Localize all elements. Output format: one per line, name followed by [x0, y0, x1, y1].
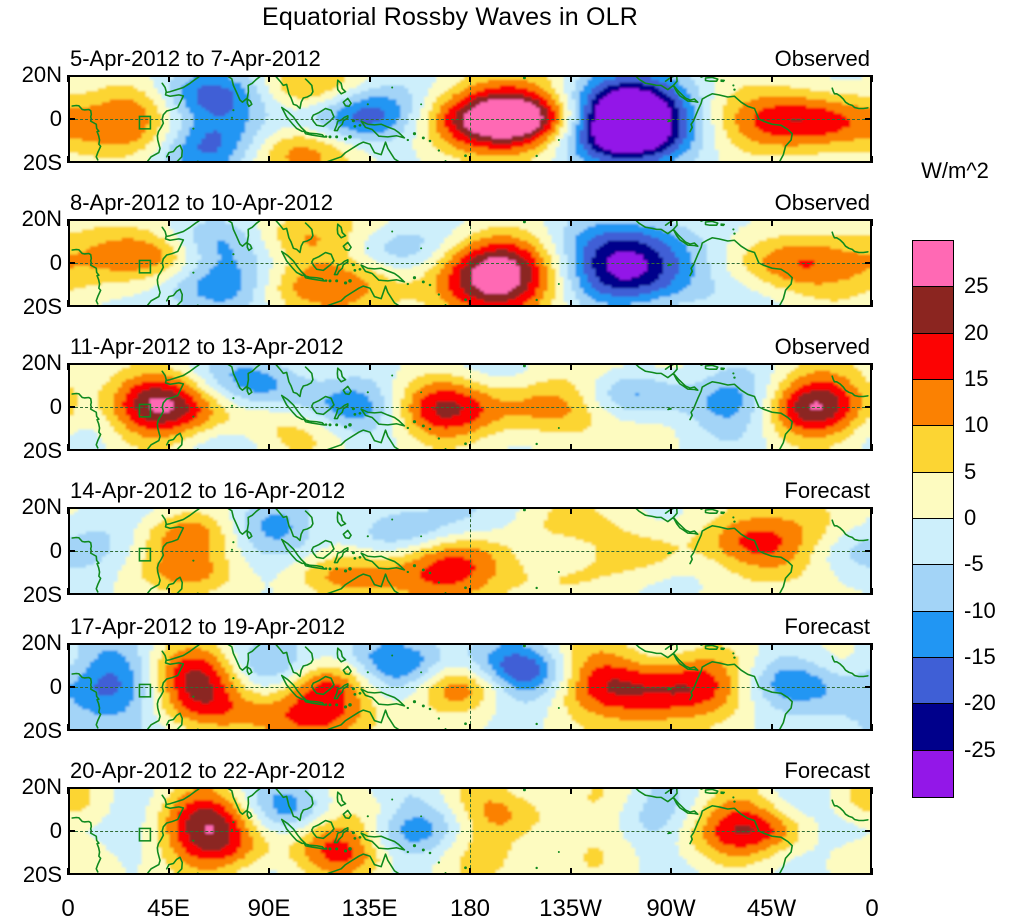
x-tick-label: 45E	[147, 895, 190, 923]
colorbar-band	[913, 287, 953, 333]
x-tick-mark	[771, 219, 773, 226]
panel-header: 17-Apr-2012 to 19-Apr-2012Forecast	[68, 614, 872, 640]
x-tick-mark	[268, 363, 270, 370]
panel-status: Observed	[775, 334, 870, 360]
x-tick-mark	[469, 868, 471, 875]
x-tick-mark	[771, 363, 773, 370]
x-tick-mark	[469, 300, 471, 307]
y-axis: 20N020S	[0, 643, 68, 731]
x-tick-mark	[369, 219, 371, 226]
colorbar-tick-label: 0	[964, 507, 976, 529]
meridian-180-line	[470, 221, 471, 305]
y-tick-mark	[68, 406, 75, 408]
x-tick-mark	[168, 643, 170, 650]
x-tick-mark	[369, 787, 371, 794]
x-tick-mark	[670, 724, 672, 731]
y-tick-mark	[865, 593, 872, 595]
colorbar-tick-label: -15	[964, 646, 996, 668]
colorbar-tick-label: 10	[964, 414, 988, 436]
x-tick-mark	[369, 363, 371, 370]
x-tick-mark	[469, 156, 471, 163]
map-panel: 5-Apr-2012 to 7-Apr-2012Observed20N020S	[68, 75, 872, 163]
y-tick-label: 0	[50, 540, 62, 562]
x-tick-mark	[469, 444, 471, 451]
y-tick-mark	[68, 873, 75, 875]
panel-date-range: 5-Apr-2012 to 7-Apr-2012	[70, 46, 321, 72]
x-tick-mark	[369, 643, 371, 650]
meridian-180-line	[470, 645, 471, 729]
x-tick-mark	[168, 444, 170, 451]
x-tick-mark	[268, 724, 270, 731]
x-tick-mark	[570, 724, 572, 731]
x-tick-mark	[369, 156, 371, 163]
x-tick-mark	[771, 444, 773, 451]
y-tick-mark	[865, 873, 872, 875]
y-axis: 20N020S	[0, 363, 68, 451]
y-tick-label: 0	[50, 820, 62, 842]
x-tick-mark	[570, 444, 572, 451]
x-tick-mark	[268, 588, 270, 595]
y-tick-label: 0	[50, 676, 62, 698]
panel-header: 20-Apr-2012 to 22-Apr-2012Forecast	[68, 758, 872, 784]
x-tick-mark	[670, 507, 672, 514]
y-tick-mark	[865, 729, 872, 731]
colorbar: W/m^2 2520151050-5-10-15-20-25	[900, 150, 1021, 850]
x-tick-mark	[168, 868, 170, 875]
x-tick-mark	[771, 787, 773, 794]
panel-date-range: 14-Apr-2012 to 16-Apr-2012	[70, 478, 345, 504]
page-title: Equatorial Rossby Waves in OLR	[0, 2, 900, 32]
x-tick-mark	[570, 156, 572, 163]
x-tick-mark	[268, 156, 270, 163]
colorbar-tick-label: 5	[964, 461, 976, 483]
x-tick-mark	[570, 300, 572, 307]
x-tick-mark	[168, 156, 170, 163]
y-tick-mark	[865, 161, 872, 163]
y-tick-mark	[865, 75, 872, 77]
x-tick-mark	[168, 363, 170, 370]
x-tick-mark	[268, 643, 270, 650]
y-tick-mark	[865, 305, 872, 307]
y-tick-label: 20S	[23, 584, 62, 606]
x-tick-mark	[168, 724, 170, 731]
y-tick-label: 20S	[23, 296, 62, 318]
panel-date-range: 20-Apr-2012 to 22-Apr-2012	[70, 758, 345, 784]
x-tick-mark	[670, 219, 672, 226]
panel-header: 5-Apr-2012 to 7-Apr-2012Observed	[68, 46, 872, 72]
panel-header: 14-Apr-2012 to 16-Apr-2012Forecast	[68, 478, 872, 504]
x-tick-mark	[369, 724, 371, 731]
panel-plot-area	[68, 643, 872, 731]
y-axis: 20N020S	[0, 787, 68, 875]
y-tick-mark	[68, 643, 75, 645]
colorbar-tick-label: -25	[964, 739, 996, 761]
y-tick-mark	[68, 686, 75, 688]
y-tick-mark	[68, 550, 75, 552]
panel-status: Observed	[775, 190, 870, 216]
colorbar-tick-label: -10	[964, 600, 996, 622]
y-tick-mark	[68, 787, 75, 789]
y-tick-label: 20N	[22, 632, 62, 654]
x-tick-mark	[268, 300, 270, 307]
x-tick-mark	[369, 507, 371, 514]
y-tick-label: 0	[50, 252, 62, 274]
y-tick-mark	[68, 305, 75, 307]
colorbar-band	[913, 519, 953, 565]
x-tick-mark	[268, 219, 270, 226]
y-tick-label: 20S	[23, 864, 62, 886]
y-tick-mark	[865, 262, 872, 264]
colorbar-band	[913, 565, 953, 611]
y-tick-label: 20N	[22, 64, 62, 86]
y-tick-mark	[68, 449, 75, 451]
figure-root: Equatorial Rossby Waves in OLR 5-Apr-201…	[0, 0, 1021, 922]
x-tick-mark	[570, 787, 572, 794]
panel-header: 11-Apr-2012 to 13-Apr-2012Observed	[68, 334, 872, 360]
y-tick-label: 0	[50, 108, 62, 130]
x-tick-mark	[469, 787, 471, 794]
x-tick-mark	[670, 643, 672, 650]
y-tick-mark	[865, 118, 872, 120]
x-tick-mark	[570, 363, 572, 370]
map-panel: 11-Apr-2012 to 13-Apr-2012Observed20N020…	[68, 363, 872, 451]
y-tick-label: 20N	[22, 352, 62, 374]
x-tick-mark	[670, 444, 672, 451]
x-tick-label: 90E	[248, 895, 291, 923]
colorbar-tick-label: 20	[964, 322, 988, 344]
x-tick-mark	[369, 300, 371, 307]
x-tick-mark	[268, 444, 270, 451]
x-tick-mark	[469, 507, 471, 514]
x-tick-label: 0	[61, 895, 74, 923]
x-tick-mark	[168, 787, 170, 794]
x-tick-mark	[168, 300, 170, 307]
y-tick-mark	[865, 363, 872, 365]
panel-plot-area	[68, 75, 872, 163]
x-tick-mark	[469, 75, 471, 82]
x-tick-mark	[570, 219, 572, 226]
x-tick-mark	[670, 787, 672, 794]
x-tick-mark	[268, 868, 270, 875]
x-tick-mark	[771, 643, 773, 650]
x-tick-mark	[469, 724, 471, 731]
x-tick-mark	[771, 507, 773, 514]
x-tick-mark	[570, 868, 572, 875]
y-tick-mark	[68, 729, 75, 731]
panel-plot-area	[68, 787, 872, 875]
x-tick-mark	[771, 868, 773, 875]
y-tick-label: 20N	[22, 208, 62, 230]
x-axis: 045E90E135E180135W90W45W0	[68, 877, 872, 922]
y-tick-mark	[68, 830, 75, 832]
colorbar-band	[913, 704, 953, 750]
x-tick-mark	[369, 444, 371, 451]
x-tick-mark	[168, 507, 170, 514]
x-tick-mark	[168, 588, 170, 595]
x-tick-mark	[268, 787, 270, 794]
colorbar-tick-label: -20	[964, 692, 996, 714]
x-tick-mark	[670, 300, 672, 307]
panel-status: Observed	[775, 46, 870, 72]
x-tick-mark	[168, 75, 170, 82]
x-tick-mark	[469, 588, 471, 595]
x-tick-mark	[570, 507, 572, 514]
x-tick-mark	[469, 219, 471, 226]
y-tick-mark	[68, 507, 75, 509]
y-tick-mark	[68, 161, 75, 163]
y-tick-mark	[865, 686, 872, 688]
map-panel: 8-Apr-2012 to 10-Apr-2012Observed20N020S	[68, 219, 872, 307]
y-tick-mark	[865, 550, 872, 552]
x-tick-label: 0	[865, 895, 878, 923]
x-tick-label: 90W	[646, 895, 695, 923]
y-tick-label: 20S	[23, 720, 62, 742]
x-tick-mark	[670, 588, 672, 595]
y-tick-label: 0	[50, 396, 62, 418]
panel-status: Forecast	[784, 614, 870, 640]
meridian-180-line	[470, 789, 471, 873]
x-tick-label: 135W	[539, 895, 602, 923]
x-tick-mark	[670, 75, 672, 82]
x-tick-mark	[670, 363, 672, 370]
x-tick-label: 180	[450, 895, 490, 923]
x-tick-mark	[369, 588, 371, 595]
y-tick-mark	[68, 118, 75, 120]
x-tick-mark	[570, 588, 572, 595]
panel-date-range: 17-Apr-2012 to 19-Apr-2012	[70, 614, 345, 640]
y-tick-mark	[68, 219, 75, 221]
colorbar-band	[913, 751, 953, 797]
colorbar-bands	[912, 240, 954, 798]
y-tick-mark	[865, 643, 872, 645]
y-tick-mark	[68, 363, 75, 365]
meridian-180-line	[470, 509, 471, 593]
panel-date-range: 11-Apr-2012 to 13-Apr-2012	[70, 334, 344, 360]
y-tick-mark	[865, 830, 872, 832]
y-tick-label: 20S	[23, 440, 62, 462]
x-tick-mark	[771, 75, 773, 82]
y-tick-mark	[865, 219, 872, 221]
y-tick-mark	[865, 507, 872, 509]
panel-plot-area	[68, 219, 872, 307]
colorbar-tick-label: 25	[964, 275, 988, 297]
x-tick-mark	[369, 75, 371, 82]
x-tick-mark	[570, 75, 572, 82]
x-tick-mark	[771, 588, 773, 595]
colorbar-tick-label: -5	[964, 553, 984, 575]
colorbar-band	[913, 612, 953, 658]
y-tick-mark	[68, 75, 75, 77]
x-tick-mark	[168, 219, 170, 226]
colorbar-band	[913, 334, 953, 380]
x-tick-label: 45W	[747, 895, 796, 923]
x-tick-mark	[771, 300, 773, 307]
map-panel: 17-Apr-2012 to 19-Apr-2012Forecast20N020…	[68, 643, 872, 731]
meridian-180-line	[470, 365, 471, 449]
y-tick-mark	[68, 593, 75, 595]
colorbar-tick-label: 15	[964, 368, 988, 390]
panel-date-range: 8-Apr-2012 to 10-Apr-2012	[70, 190, 333, 216]
x-tick-mark	[670, 868, 672, 875]
map-panel: 14-Apr-2012 to 16-Apr-2012Forecast20N020…	[68, 507, 872, 595]
map-panel: 20-Apr-2012 to 22-Apr-2012Forecast20N020…	[68, 787, 872, 875]
x-tick-label: 135E	[341, 895, 397, 923]
y-tick-mark	[865, 449, 872, 451]
colorbar-band	[913, 241, 953, 287]
x-tick-mark	[771, 156, 773, 163]
x-tick-mark	[469, 643, 471, 650]
x-tick-mark	[369, 868, 371, 875]
y-tick-mark	[865, 787, 872, 789]
x-tick-mark	[268, 75, 270, 82]
y-axis: 20N020S	[0, 507, 68, 595]
panel-plot-area	[68, 363, 872, 451]
x-tick-mark	[771, 724, 773, 731]
y-axis: 20N020S	[0, 75, 68, 163]
x-tick-mark	[570, 643, 572, 650]
panel-plot-area	[68, 507, 872, 595]
y-axis: 20N020S	[0, 219, 68, 307]
y-tick-mark	[68, 262, 75, 264]
x-tick-mark	[268, 507, 270, 514]
y-tick-label: 20S	[23, 152, 62, 174]
panel-status: Forecast	[784, 478, 870, 504]
meridian-180-line	[470, 77, 471, 161]
x-tick-mark	[469, 363, 471, 370]
y-tick-label: 20N	[22, 496, 62, 518]
colorbar-ticks: 2520151050-5-10-15-20-25	[958, 240, 1020, 796]
colorbar-band	[913, 380, 953, 426]
x-tick-mark	[670, 156, 672, 163]
panel-header: 8-Apr-2012 to 10-Apr-2012Observed	[68, 190, 872, 216]
panel-status: Forecast	[784, 758, 870, 784]
colorbar-band	[913, 426, 953, 472]
y-tick-mark	[865, 406, 872, 408]
y-tick-label: 20N	[22, 776, 62, 798]
colorbar-units: W/m^2	[900, 158, 1010, 184]
colorbar-band	[913, 658, 953, 704]
colorbar-band	[913, 473, 953, 519]
